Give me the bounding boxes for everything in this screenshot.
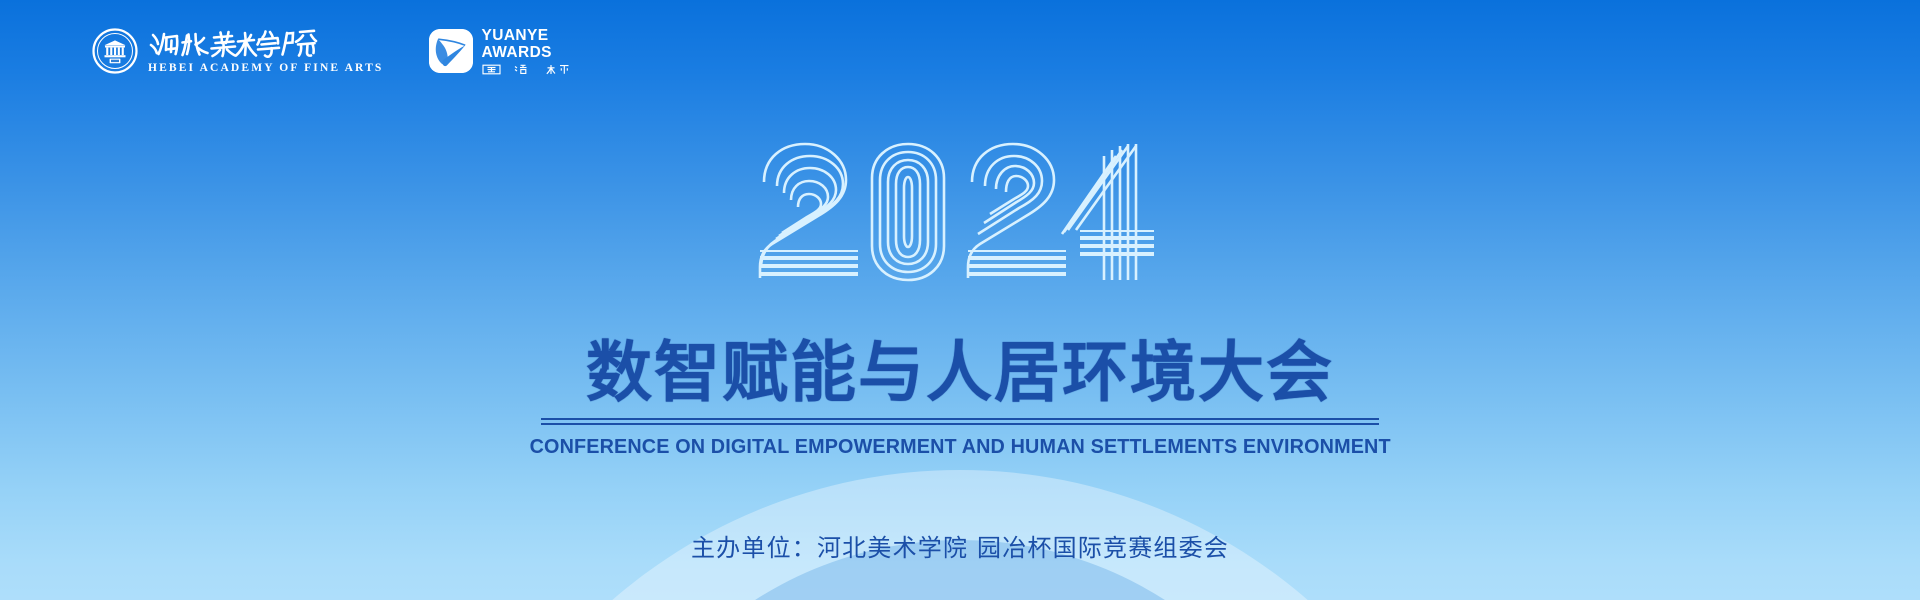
yuanye-line1: YUANYE	[481, 28, 573, 44]
hebei-academy-wordmark: HEBEI ACADEMY OF FINE ARTS	[148, 28, 383, 75]
yuanye-leaf-mark-icon	[429, 29, 473, 73]
yuanye-line2: AWARDS	[481, 45, 573, 61]
logo-yuanye-awards[interactable]: YUANYE AWARDS	[429, 28, 573, 74]
year-digit-2a-tail	[758, 248, 862, 283]
page-subtitle: CONFERENCE ON DIGITAL EMPOWERMENT AND HU…	[529, 435, 1390, 459]
year-digit-0	[872, 144, 944, 280]
yuanye-wordmark: YUANYE AWARDS	[481, 28, 573, 74]
yuanye-name-cn	[481, 63, 573, 74]
logo-row: HEBEI ACADEMY OF FINE ARTS YUANYE AWARDS	[92, 28, 573, 75]
hebei-academy-name-en: HEBEI ACADEMY OF FINE ARTS	[148, 63, 383, 75]
logo-hebei-academy-of-fine-arts[interactable]: HEBEI ACADEMY OF FINE ARTS	[92, 28, 383, 75]
hebei-academy-name-cn	[148, 28, 383, 58]
conference-banner: HEBEI ACADEMY OF FINE ARTS YUANYE AWARDS	[0, 0, 1920, 600]
title-divider	[541, 418, 1379, 425]
university-seal-icon	[92, 28, 138, 74]
page-title: 数智赋能与人居环境大会	[586, 338, 1334, 407]
year-digit-4	[1062, 144, 1136, 280]
title-block: 数智赋能与人居环境大会 CONFERENCE ON DIGITAL EMPOWE…	[0, 338, 1920, 459]
year-digit-2b-tail	[966, 248, 1070, 283]
year-graphic	[0, 134, 1920, 284]
organizer-line: 主办单位：河北美术学院 园冶杯国际竞赛组委会	[0, 528, 1920, 563]
